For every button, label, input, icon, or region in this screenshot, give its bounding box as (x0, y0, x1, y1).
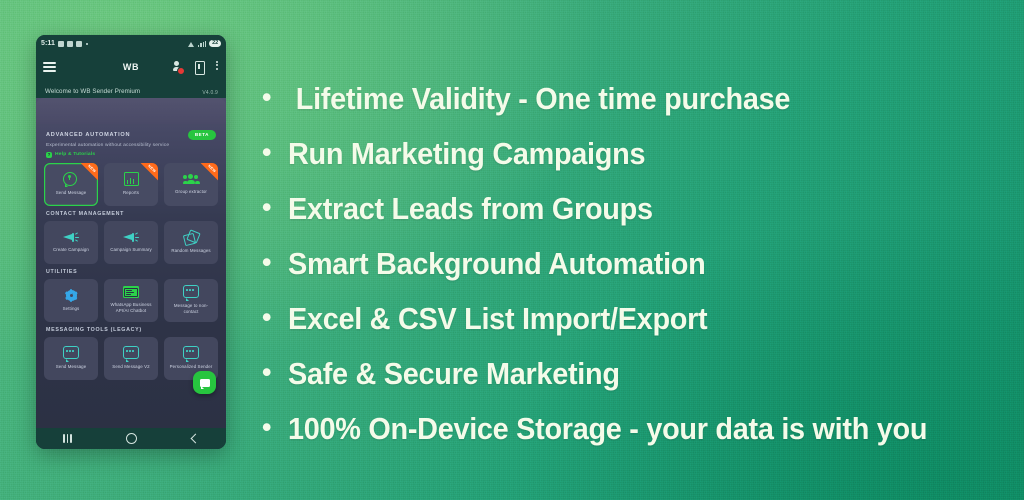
feature-list: • Lifetime Validity - One time purchase … (262, 76, 1000, 461)
welcome-strip: Welcome to WB Sender Premium V4.0.9 (36, 82, 226, 98)
card-grid-utilities: Settings WhatsApp Business API/AI Chatbo… (44, 279, 218, 322)
device-icon[interactable] (194, 61, 205, 74)
help-icon: ? (46, 152, 52, 158)
gear-icon (65, 289, 78, 302)
app-version-label: V4.0.9 (202, 90, 218, 96)
toolbar-actions (173, 61, 219, 74)
card-grid-contact-management: Create Campaign Campaign Summary Random … (44, 221, 218, 264)
section-label-contact-management: CONTACT MANAGEMENT (46, 211, 216, 217)
feature-item: • Lifetime Validity - One time purchase (262, 76, 1000, 122)
android-nav-bar (36, 428, 226, 449)
help-tutorials-link[interactable]: ? Help & Tutorials (46, 152, 216, 158)
bullet-icon: • (262, 351, 288, 394)
settings-gear-icon (67, 41, 73, 47)
checkbox-icon (58, 41, 64, 47)
hamburger-icon[interactable] (43, 62, 56, 72)
status-bar: 5:11 22 (36, 35, 226, 52)
help-tutorials-label: Help & Tutorials (55, 152, 95, 157)
card-grid-automation: NEW Send Message NEW Reports NEW Group e… (44, 163, 218, 206)
feature-label: Excel & CSV List Import/Export (288, 296, 707, 342)
notification-badge (177, 67, 185, 75)
chat-bubble-icon (63, 346, 79, 360)
whatsapp-bubble-icon (63, 172, 79, 186)
back-icon[interactable] (190, 434, 200, 444)
feature-item: • Smart Background Automation (262, 241, 1000, 287)
feature-label: Safe & Secure Marketing (288, 351, 620, 397)
phone-mockup: 5:11 22 WB Welcome to WB Sender Premium … (36, 35, 226, 449)
status-bar-indicators: 22 (188, 40, 221, 48)
card-send-message-v2[interactable]: Send Message V2 (104, 337, 158, 380)
section-label-utilities: UTILITIES (46, 269, 216, 275)
card-send-message[interactable]: NEW Send Message (44, 163, 98, 206)
chat-bubble-icon (183, 346, 199, 360)
card-message-non-contact[interactable]: Message to non-contact (164, 279, 218, 322)
bar-chart-icon (124, 172, 139, 186)
chat-bubble-icon (183, 285, 199, 299)
bullet-icon: • (262, 131, 288, 174)
person-add-icon[interactable] (173, 61, 184, 74)
status-bar-clock: 5:11 (41, 40, 55, 47)
card-settings[interactable]: Settings (44, 279, 98, 322)
dot-icon (86, 43, 88, 45)
new-message-icon (200, 379, 210, 387)
bullet-icon: • (262, 241, 288, 284)
new-ribbon: NEW (77, 163, 98, 183)
advanced-automation-title: ADVANCED AUTOMATION (46, 132, 130, 138)
card-send-message-legacy[interactable]: Send Message (44, 337, 98, 380)
card-reports[interactable]: NEW Reports (104, 163, 158, 206)
advanced-automation-subtitle: Experimental automation without accessib… (46, 143, 216, 148)
new-ribbon: NEW (197, 163, 218, 183)
card-whatsapp-business-api[interactable]: WhatsApp Business API/AI Chatbot (104, 279, 158, 322)
welcome-message: Welcome to WB Sender Premium (45, 88, 217, 95)
recents-icon[interactable] (63, 434, 71, 443)
feature-label: Smart Background Automation (288, 241, 705, 287)
advanced-automation-header: ADVANCED AUTOMATION BETA (46, 130, 216, 140)
feature-item: • Excel & CSV List Import/Export (262, 296, 1000, 342)
app-toolbar: WB (36, 52, 226, 82)
overflow-menu-icon[interactable] (215, 61, 219, 74)
feature-label: Extract Leads from Groups (288, 186, 653, 232)
feature-item: • 100% On-Device Storage - your data is … (262, 406, 1000, 452)
bullet-icon: • (262, 296, 288, 339)
card-label: Send Message (53, 364, 90, 370)
bullet-icon: • (262, 406, 288, 449)
card-label: Send Message (53, 190, 90, 196)
hero-banner (36, 98, 226, 124)
card-group-extractor[interactable]: NEW Group extractor (164, 163, 218, 206)
bullet-icon: • (262, 186, 288, 229)
card-create-campaign[interactable]: Create Campaign (44, 221, 98, 264)
new-ribbon: NEW (137, 163, 158, 183)
group-icon (183, 174, 200, 185)
feature-item: • Extract Leads from Groups (262, 186, 1000, 232)
card-label: WhatsApp Business API/AI Chatbot (104, 302, 158, 314)
card-label: Random Messages (168, 248, 213, 254)
app-content: ADVANCED AUTOMATION BETA Experimental au… (36, 98, 226, 449)
shuffle-cards-icon (184, 231, 199, 244)
card-label: Campaign Summary (107, 247, 155, 253)
card-label: Group extractor (172, 189, 210, 195)
card-label: Send Message V2 (109, 364, 152, 370)
feature-label: Lifetime Validity - One time purchase (288, 76, 790, 122)
chat-bubble-icon (123, 346, 139, 360)
megaphone-icon (123, 231, 139, 243)
business-screen-icon (123, 286, 139, 298)
home-icon[interactable] (126, 433, 137, 444)
card-label: Settings (60, 306, 83, 312)
card-campaign-summary[interactable]: Campaign Summary (104, 221, 158, 264)
feature-item: • Safe & Secure Marketing (262, 351, 1000, 397)
card-label: Create Campaign (50, 247, 92, 253)
wifi-icon (188, 41, 195, 47)
battery-icon: 22 (209, 40, 221, 48)
signal-icon (198, 41, 206, 47)
beta-badge: BETA (188, 130, 216, 140)
card-label: Message to non-contact (164, 303, 218, 315)
card-label: Personalized Sender (167, 364, 216, 370)
bullet-icon: • (262, 76, 288, 119)
new-message-fab[interactable] (193, 371, 216, 394)
image-icon (76, 41, 82, 47)
card-random-messages[interactable]: Random Messages (164, 221, 218, 264)
feature-label: 100% On-Device Storage - your data is wi… (288, 406, 927, 452)
card-label: Reports (120, 190, 142, 196)
section-label-messaging-tools: MESSAGING TOOLS (LEGACY) (46, 327, 216, 333)
feature-label: Run Marketing Campaigns (288, 131, 645, 177)
card-grid-messaging-tools: Send Message Send Message V2 Personalize… (44, 337, 218, 380)
feature-item: • Run Marketing Campaigns (262, 131, 1000, 177)
megaphone-icon (63, 231, 79, 243)
